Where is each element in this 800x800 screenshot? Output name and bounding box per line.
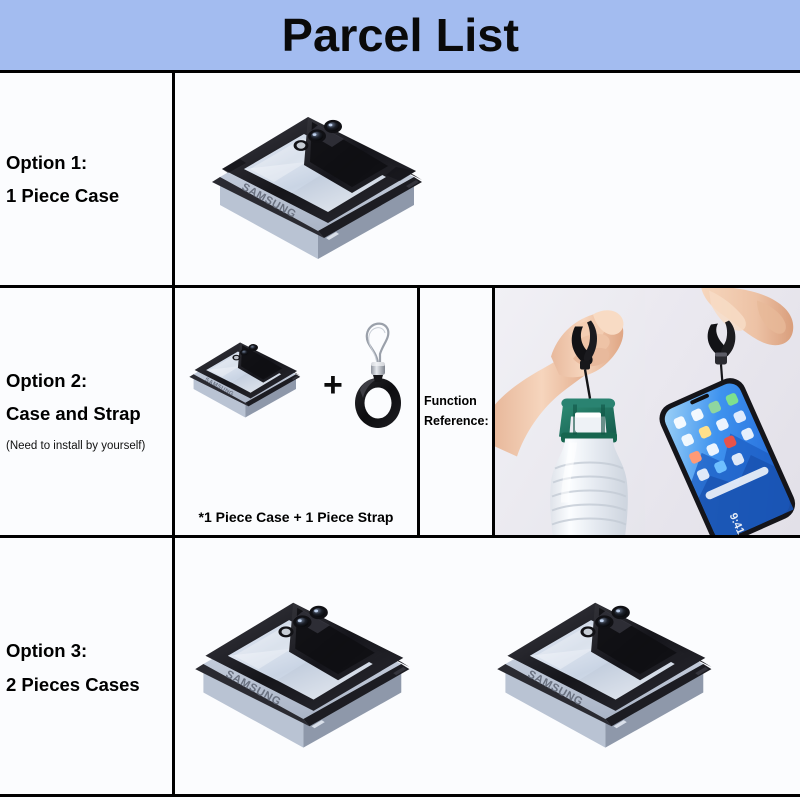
parcel-list-page: Parcel List Option 1: 1 Piece Case bbox=[0, 0, 800, 800]
options-table: Option 1: 1 Piece Case bbox=[0, 70, 800, 797]
table-row-option-3: Option 3: 2 Pieces Cases bbox=[0, 538, 800, 797]
table-row-option-2: Option 2: Case and Strap (Need to instal… bbox=[0, 288, 800, 538]
option-2-note: (Need to install by yourself) bbox=[6, 440, 168, 453]
option-2-bundle-cell: SAMSUNG + bbox=[175, 288, 420, 535]
option-2-description: Case and Strap bbox=[6, 404, 168, 423]
option-1-description: 1 Piece Case bbox=[6, 186, 168, 205]
function-reference-label-line-2: Reference: bbox=[424, 412, 492, 431]
option-3-description: 2 Pieces Cases bbox=[6, 675, 168, 694]
photo-hand-strap-hanging-phone: 9:41 bbox=[645, 288, 800, 535]
plus-sign-icon: + bbox=[323, 368, 343, 402]
black-ring-strap-icon bbox=[347, 306, 409, 446]
option-3-label-cell: Option 3: 2 Pieces Cases bbox=[0, 538, 175, 797]
page-title: Parcel List bbox=[281, 12, 518, 58]
option-1-label-cell: Option 1: 1 Piece Case bbox=[0, 73, 175, 285]
samsung-z-flip-clear-case-folded-icon: SAMSUNG bbox=[485, 563, 740, 768]
option-2-title: Option 2: bbox=[6, 371, 168, 390]
option-1-image-cell: SAMSUNG bbox=[175, 73, 800, 285]
option-1-title: Option 1: bbox=[6, 153, 168, 172]
table-row-option-1: Option 1: 1 Piece Case bbox=[0, 73, 800, 288]
samsung-z-flip-clear-case-folded-icon: SAMSUNG bbox=[183, 563, 438, 768]
function-reference-label-cell: Function Reference: bbox=[420, 288, 495, 535]
samsung-z-flip-clear-case-folded-icon: SAMSUNG bbox=[200, 81, 450, 276]
samsung-z-flip-clear-case-folded-icon: SAMSUNG bbox=[183, 316, 315, 434]
page-header-band: Parcel List bbox=[0, 0, 800, 70]
option-2-label-cell: Option 2: Case and Strap (Need to instal… bbox=[0, 288, 175, 535]
photo-hand-strap-bottle-clip bbox=[495, 288, 645, 535]
option-3-title: Option 3: bbox=[6, 641, 168, 660]
function-reference-label-line-1: Function bbox=[424, 392, 492, 411]
option-3-image-cell: SAMSUNG bbox=[175, 538, 800, 797]
function-reference-photos-cell: 9:41 bbox=[495, 288, 800, 535]
option-2-caption: *1 Piece Case + 1 Piece Strap bbox=[175, 509, 417, 525]
